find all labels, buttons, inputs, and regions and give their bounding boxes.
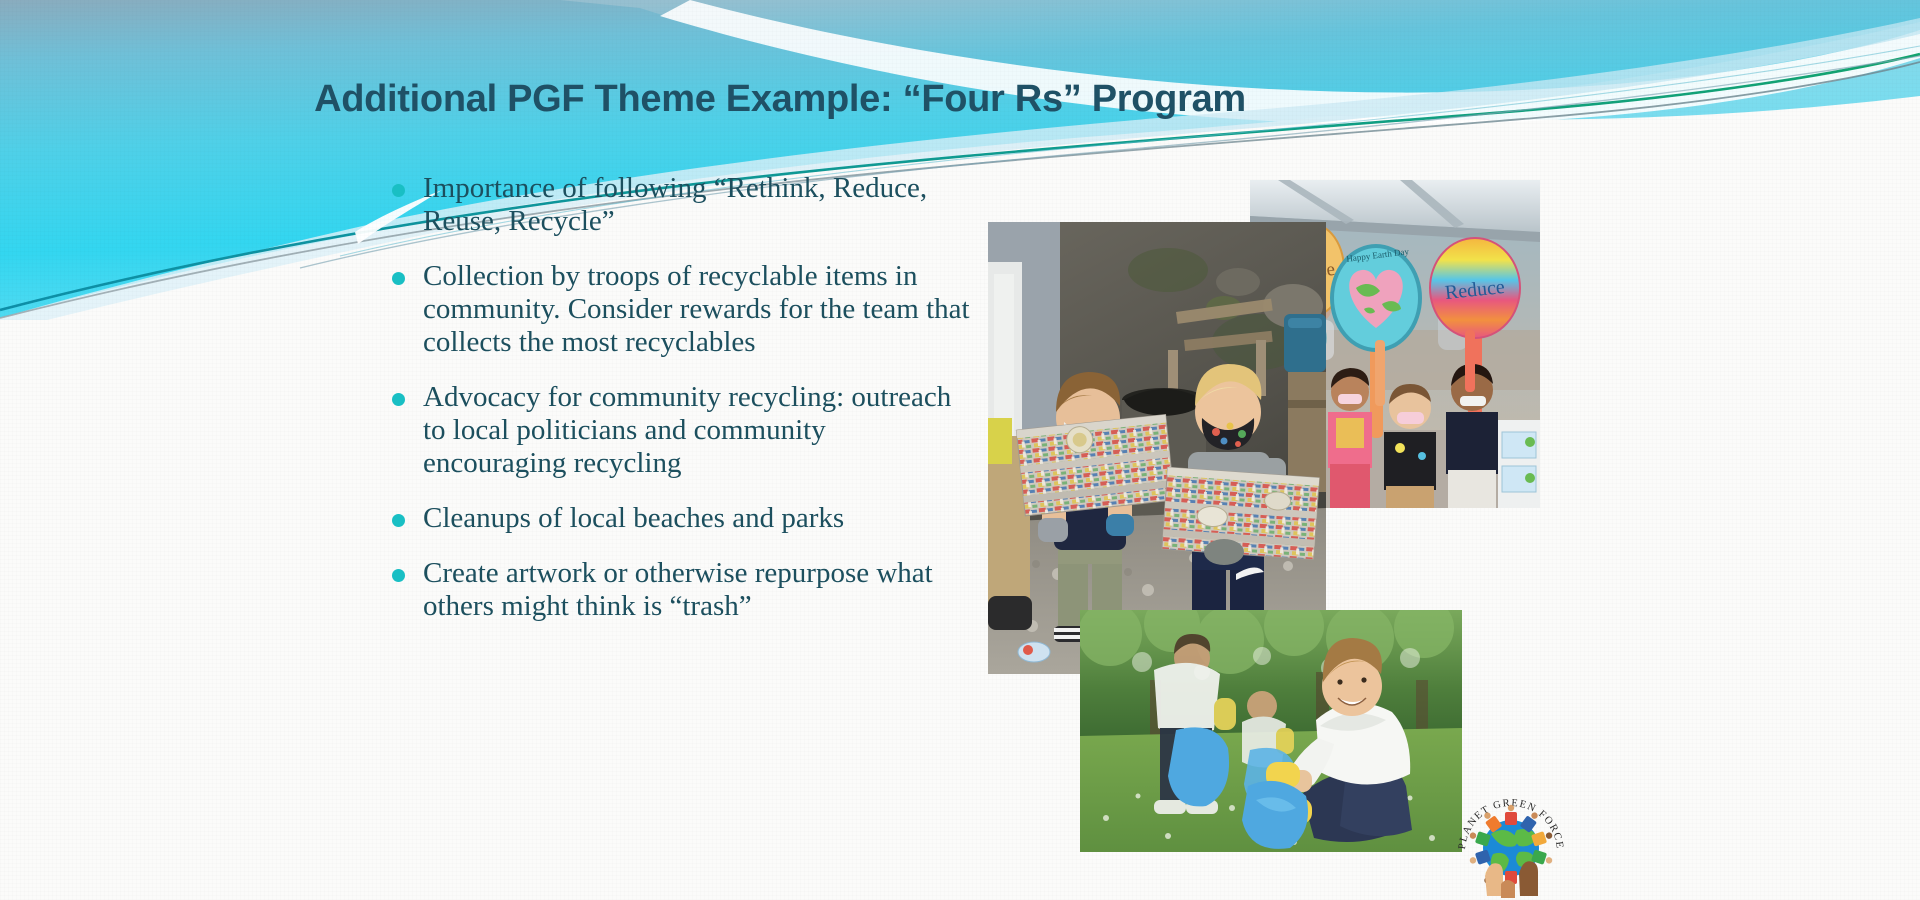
bullet-dot-icon <box>392 393 405 406</box>
bullet-dot-icon <box>392 184 405 197</box>
bullet-text: Advocacy for community recycling: outrea… <box>423 381 972 480</box>
photo-cleanup <box>1080 610 1462 852</box>
bullet-text: Create artwork or otherwise repurpose wh… <box>423 557 972 623</box>
planet-green-force-logo: PLANET GREEN FORCE <box>1455 790 1567 898</box>
bullet-text: Cleanups of local beaches and parks <box>423 502 972 535</box>
slide-title: Additional PGF Theme Example: “Four Rs” … <box>0 78 1560 121</box>
photo-recyclables <box>988 222 1326 674</box>
bullet-item: Importance of following “Rethink, Reduce… <box>392 172 972 238</box>
bullet-item: Cleanups of local beaches and parks <box>392 502 972 535</box>
bullet-dot-icon <box>392 569 405 582</box>
bullet-item: Create artwork or otherwise repurpose wh… <box>392 557 972 623</box>
bullet-dot-icon <box>392 272 405 285</box>
bullet-item: Collection by troops of recyclable items… <box>392 260 972 359</box>
bullet-text: Collection by troops of recyclable items… <box>423 260 972 359</box>
bullet-list: Importance of following “Rethink, Reduce… <box>392 172 972 646</box>
bullet-dot-icon <box>392 514 405 527</box>
presentation-slide: Additional PGF Theme Example: “Four Rs” … <box>0 0 1920 900</box>
bullet-text: Importance of following “Rethink, Reduce… <box>423 172 972 238</box>
bullet-item: Advocacy for community recycling: outrea… <box>392 381 972 480</box>
